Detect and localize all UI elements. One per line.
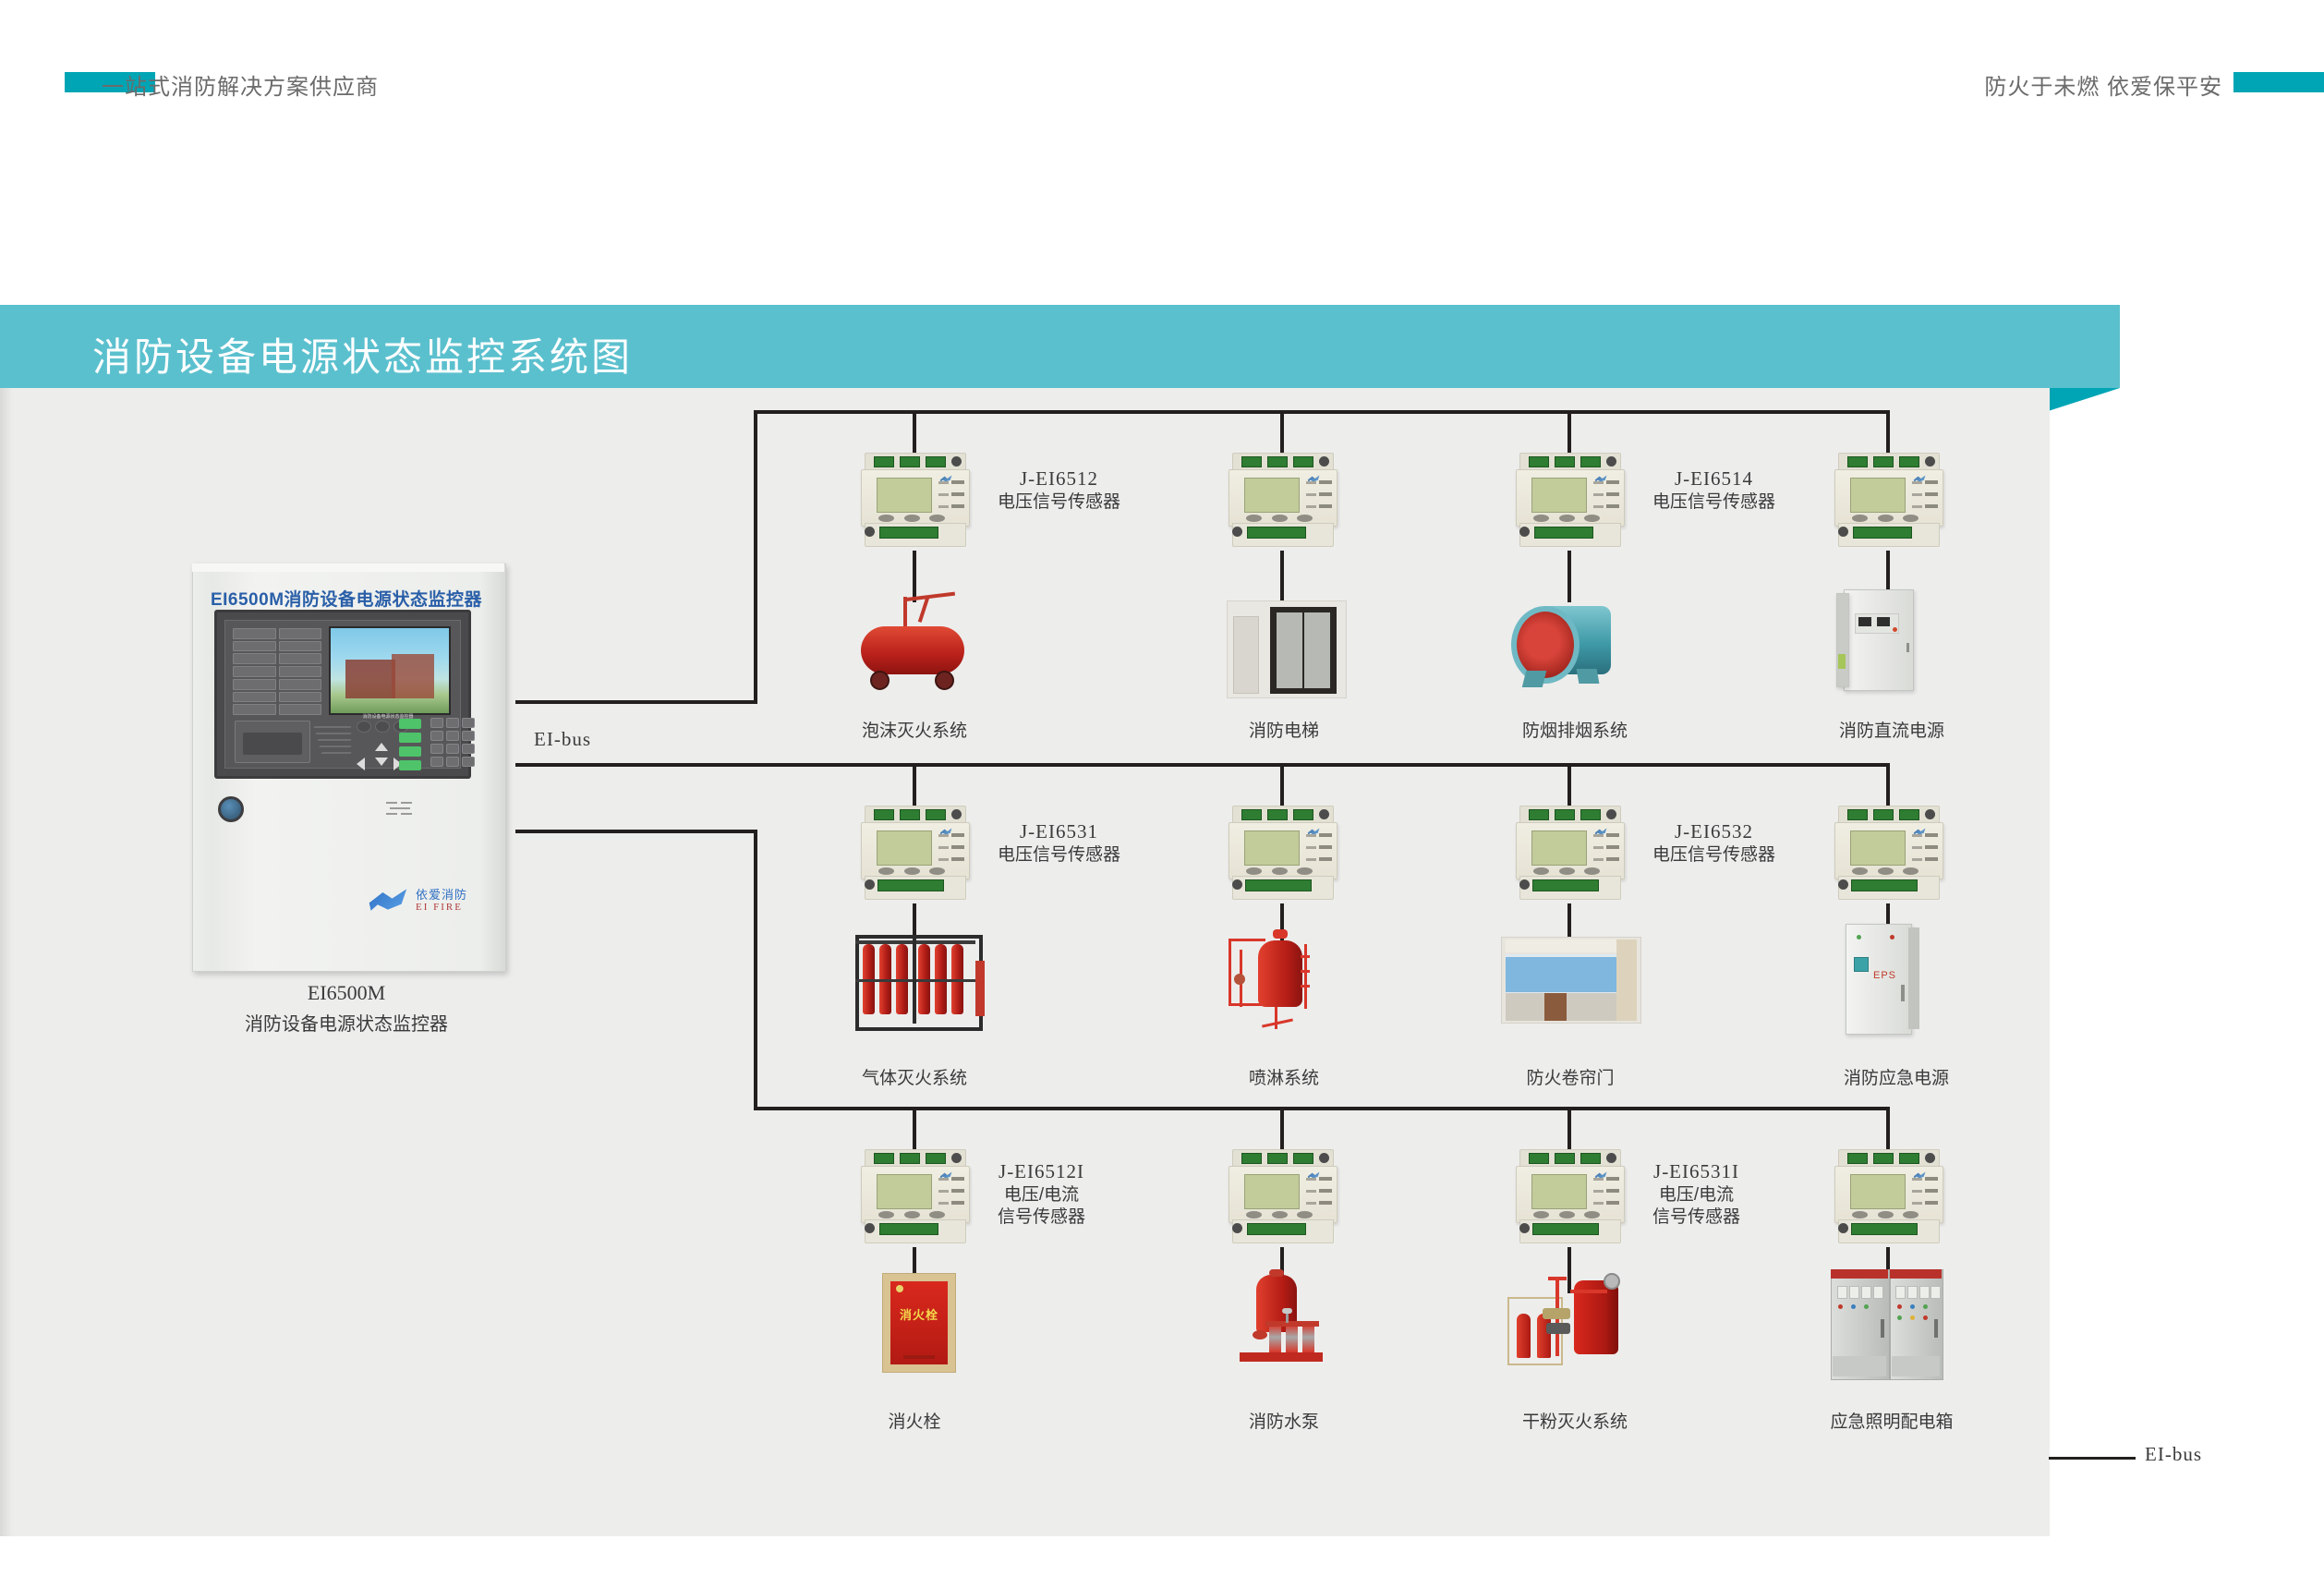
sensor-module-r1c3[interactable] <box>1514 453 1625 549</box>
sensor-button[interactable] <box>929 867 945 875</box>
bus-wire-row3-horizontal <box>754 1107 1888 1110</box>
cabinet-side <box>1836 593 1849 687</box>
sensor-module-r1c2[interactable] <box>1227 453 1338 549</box>
bus-wire-controller-to-row1 <box>515 700 757 704</box>
bus-wire-row1-horizontal <box>754 410 1888 414</box>
sensor-buttons[interactable] <box>878 1211 945 1218</box>
lcd-building-graphic <box>392 654 434 698</box>
controller-faceplate-title: EI6500M消防设备电源状态监控器 <box>185 586 508 611</box>
sensor-knob[interactable] <box>865 879 875 890</box>
status-led-red <box>1890 935 1894 939</box>
sensor-buttons[interactable] <box>1852 867 1919 875</box>
sensor-kind-line1: 电压/电流 <box>1652 1186 1740 1204</box>
keypad-key[interactable] <box>446 744 459 754</box>
terminal-block <box>1293 809 1313 820</box>
sensor-caption-r2c1: J-EI6531 电压信号传感器 <box>998 822 1120 864</box>
terminal-block <box>1847 456 1868 467</box>
equipment-caption-r2c3: 防火卷帘门 <box>1487 1064 1653 1089</box>
sensor-module-r2c1[interactable] <box>859 806 970 902</box>
sensor-body <box>1516 822 1625 879</box>
sensor-button[interactable] <box>1297 515 1313 522</box>
sensor-caption-r1c3: J-EI6514 电压信号传感器 <box>1652 469 1775 511</box>
function-button[interactable] <box>399 733 421 743</box>
indicator-lamp <box>279 628 322 639</box>
arrow-left-icon[interactable] <box>357 758 365 770</box>
sensor-model: J-EI6512 <box>998 469 1120 489</box>
sensor-body <box>1229 822 1338 879</box>
equipment-smoke-exhaust-fan <box>1504 591 1642 702</box>
indicator-lamp <box>279 653 322 664</box>
indicator-lamp <box>233 692 276 703</box>
roller-shutter <box>1506 954 1616 995</box>
terminal-block <box>1899 809 1919 820</box>
sensor-knob[interactable] <box>1519 879 1530 890</box>
sensor-display <box>1244 1174 1300 1209</box>
sensor-button[interactable] <box>1272 515 1288 522</box>
terminal-block <box>874 456 894 467</box>
sensor-module-r3c4[interactable] <box>1833 1149 1943 1245</box>
controller-indicator-lamp-grid <box>233 628 321 715</box>
controller-screen-frame: 消防设备电源状态监控器 <box>214 610 471 779</box>
sensor-kind-line1: 电压/电流 <box>998 1186 1085 1204</box>
sensor-button[interactable] <box>929 1211 945 1218</box>
controller-lower-vent <box>386 802 414 815</box>
equipment-emergency-lighting-panel <box>1822 1267 1960 1386</box>
sensor-buttons[interactable] <box>1246 1211 1313 1218</box>
controller-caption: EI6500M 消防设备电源状态监控器 <box>185 981 508 1036</box>
terminal-block <box>900 809 920 820</box>
sensor-knob[interactable] <box>1925 1153 1935 1163</box>
sensor-caption-r3c1: J-EI6512I 电压/电流 信号传感器 <box>998 1162 1085 1226</box>
eifire-logo-icon <box>366 887 408 915</box>
terminal-block <box>1267 1153 1288 1164</box>
sensor-knob[interactable] <box>865 1223 875 1233</box>
sensor-buttons[interactable] <box>1533 1211 1600 1218</box>
equipment-fire-pump <box>1229 1267 1349 1383</box>
equipment-caption-r2c4: 消防应急电源 <box>1809 1064 1984 1089</box>
terminal-block <box>1580 456 1601 467</box>
terminal-block <box>1267 809 1288 820</box>
equipment-caption-r1c2: 消防电梯 <box>1201 717 1367 742</box>
sensor-module-r3c1[interactable] <box>859 1149 970 1245</box>
keypad-key[interactable] <box>446 731 459 741</box>
sensor-button[interactable] <box>1559 1211 1575 1218</box>
controller-key-lock[interactable] <box>218 796 244 822</box>
equipment-dry-powder-system <box>1506 1267 1644 1383</box>
legend-bus-line-sample <box>2049 1457 2136 1460</box>
sensor-knob[interactable] <box>1606 456 1616 467</box>
terminal-strip <box>1853 527 1912 539</box>
sensor-caption-r3c3: J-EI6531I 电压/电流 信号传感器 <box>1652 1162 1740 1226</box>
equipment-caption-r1c1: 泡沫灭火系统 <box>831 717 998 742</box>
equipment-sprinkler-system <box>1217 924 1351 1039</box>
bus-wire-row2-horizontal <box>878 763 1888 767</box>
sensor-body <box>1516 469 1625 527</box>
sensor-body <box>1516 1166 1625 1223</box>
terminal-block <box>1555 456 1575 467</box>
sensor-model: J-EI6514 <box>1652 469 1775 489</box>
terminal-block <box>926 809 946 820</box>
sensor-model: J-EI6531 <box>998 822 1120 842</box>
drop-wire-r1c1 <box>913 410 916 455</box>
controller-top-edge <box>192 564 504 572</box>
controller-caption-model: EI6500M <box>185 981 508 1005</box>
terminal-strip <box>1247 1223 1306 1235</box>
controller-printer[interactable] <box>235 721 310 763</box>
terminal-strip <box>1851 1223 1918 1235</box>
equipment-caption-r2c2: 喷淋系统 <box>1201 1064 1367 1089</box>
sensor-module-r1c4[interactable] <box>1833 453 1943 549</box>
sensor-button[interactable] <box>1559 515 1575 522</box>
terminal-strip <box>1247 527 1306 539</box>
sensor-kind-line2: 信号传感器 <box>1652 1208 1740 1226</box>
terminal-block <box>926 456 946 467</box>
sensor-module-r2c4[interactable] <box>1833 806 1943 902</box>
sensor-module-r2c2[interactable] <box>1227 806 1338 902</box>
sensor-button[interactable] <box>1246 1211 1262 1218</box>
terminal-block <box>1873 809 1894 820</box>
sensor-knob[interactable] <box>1838 1223 1848 1233</box>
terminal-block <box>926 1153 946 1164</box>
equipment-fire-elevator <box>1219 591 1353 702</box>
sensor-display <box>1244 478 1300 513</box>
sensor-knob[interactable] <box>1838 879 1848 890</box>
drop-wire-r2c1 <box>913 763 916 807</box>
sensor-kind: 电压信号传感器 <box>1652 846 1775 864</box>
drop-wire-r1c3 <box>1567 410 1571 455</box>
sensor-display <box>877 1174 932 1209</box>
sensor-button[interactable] <box>1246 867 1262 875</box>
controller-unit[interactable]: EI6500M消防设备电源状态监控器 消防设备电源状态监控器 <box>185 564 508 1025</box>
sensor-buttons[interactable] <box>878 515 945 522</box>
terminal-block <box>874 1153 894 1164</box>
terminal-block <box>1580 1153 1601 1164</box>
equipment-caption-r3c2: 消防水泵 <box>1201 1408 1367 1433</box>
sensor-body <box>1229 1166 1338 1223</box>
terminal-block <box>1873 1153 1894 1164</box>
sensor-knob[interactable] <box>951 1153 962 1163</box>
sensor-buttons[interactable] <box>1852 515 1919 522</box>
drop-wire-r2c3 <box>1567 763 1571 807</box>
keypad-key[interactable] <box>430 744 443 754</box>
terminal-strip <box>878 879 944 891</box>
legend-bus-label: EI-bus <box>2145 1443 2202 1466</box>
status-led-green <box>1857 935 1861 939</box>
sensor-button[interactable] <box>1559 867 1575 875</box>
equipment-caption-r1c4: 消防直流电源 <box>1809 717 1975 742</box>
sensor-button[interactable] <box>1878 515 1894 522</box>
sensor-buttons[interactable] <box>1533 515 1600 522</box>
sensor-module-r3c3[interactable] <box>1514 1149 1625 1245</box>
controller-inner-bezel: 消防设备电源状态监控器 <box>224 620 461 769</box>
drop-wire-r1c2 <box>1280 410 1284 455</box>
sensor-module-r2c3[interactable] <box>1514 806 1625 902</box>
terminal-strip <box>1534 527 1593 539</box>
sensor-button[interactable] <box>1297 1211 1313 1218</box>
lcd-building-graphic <box>345 660 395 698</box>
sensor-caption-r1c1: J-EI6512 电压信号传感器 <box>998 469 1120 511</box>
terminal-block <box>1241 809 1262 820</box>
terminal-block <box>1267 456 1288 467</box>
arrow-down-icon[interactable] <box>375 758 388 766</box>
terminal-block <box>1847 1153 1868 1164</box>
terminal-block <box>1899 1153 1919 1164</box>
sensor-knob[interactable] <box>1319 1153 1329 1163</box>
sensor-display <box>877 830 932 866</box>
roller-door-photo <box>1501 937 1641 1024</box>
sensor-buttons[interactable] <box>878 867 945 875</box>
round-button[interactable] <box>357 721 371 733</box>
controller-lcd-screen[interactable] <box>329 626 451 715</box>
sensor-body <box>861 1166 970 1223</box>
sensor-button[interactable] <box>904 515 920 522</box>
terminal-block <box>1529 809 1549 820</box>
sensor-display <box>1850 830 1906 866</box>
terminal-block <box>1241 456 1262 467</box>
terminal-block <box>1580 809 1601 820</box>
sensor-knob[interactable] <box>951 809 962 819</box>
sensor-knob[interactable] <box>1319 456 1329 467</box>
indicator-lamp <box>233 704 276 715</box>
sprinkler-tank <box>1258 940 1302 1007</box>
sensor-kind: 电压信号传感器 <box>998 846 1120 864</box>
terminal-block <box>1529 456 1549 467</box>
terminal-strip <box>1245 879 1312 891</box>
indicator-lamp <box>233 666 276 677</box>
bus-wire-row3-riser <box>754 830 757 1110</box>
sensor-model: J-EI6531I <box>1652 1162 1740 1182</box>
sensor-knob[interactable] <box>1606 809 1616 819</box>
terminal-strip <box>1851 879 1918 891</box>
sensor-knob[interactable] <box>1606 1153 1616 1163</box>
indicator-lamp <box>233 653 276 664</box>
cabinet-body <box>1844 589 1914 691</box>
sensor-knob[interactable] <box>1519 527 1530 537</box>
sensor-button[interactable] <box>1878 867 1894 875</box>
sensor-caption-r2c3: J-EI6532 电压信号传感器 <box>1652 822 1775 864</box>
equipment-caption-r1c3: 防烟排烟系统 <box>1487 717 1663 742</box>
keypad-key[interactable] <box>462 718 475 728</box>
sensor-button[interactable] <box>878 867 894 875</box>
sensor-button[interactable] <box>1297 867 1313 875</box>
sensor-button[interactable] <box>1246 515 1262 522</box>
sensor-button[interactable] <box>1852 867 1868 875</box>
drop-wire-r3c2 <box>1280 1107 1284 1151</box>
sensor-knob[interactable] <box>1232 879 1242 890</box>
sensor-button[interactable] <box>1272 1211 1288 1218</box>
terminal-block <box>1555 809 1575 820</box>
hydrant-red-door: 消火栓 <box>890 1281 948 1364</box>
equipment-gas-suppression-system <box>850 924 988 1039</box>
equipment-eps-cabinet: EPS <box>1829 924 1954 1039</box>
sensor-display <box>1531 830 1587 866</box>
sensor-button[interactable] <box>1852 515 1868 522</box>
sensor-module-r1c1[interactable] <box>859 453 970 549</box>
keypad-key[interactable] <box>462 757 475 767</box>
sensor-knob[interactable] <box>951 456 962 467</box>
terminal-strip <box>1532 879 1599 891</box>
sensor-button[interactable] <box>1903 867 1919 875</box>
equipment-caption-r3c1: 消火栓 <box>831 1408 998 1433</box>
controller-numeric-keypad[interactable] <box>430 718 475 767</box>
equipment-dc-power-cabinet <box>1827 589 1956 702</box>
sensor-kind: 电压信号传感器 <box>1652 493 1775 511</box>
sensor-button[interactable] <box>878 515 894 522</box>
sensor-button[interactable] <box>1903 1211 1919 1218</box>
function-button[interactable] <box>399 719 421 729</box>
equipment-fire-hydrant-box: 消火栓 <box>854 1267 984 1383</box>
sensor-display <box>877 478 932 513</box>
sensor-button[interactable] <box>904 867 920 875</box>
indicator-lamp <box>279 679 322 690</box>
controller-caption-name: 消防设备电源状态监控器 <box>185 1009 508 1036</box>
sensor-button[interactable] <box>1584 515 1600 522</box>
equipment-caption-r3c4: 应急照明配电箱 <box>1799 1408 1984 1433</box>
arrow-up-icon[interactable] <box>375 743 388 751</box>
header-tagline-left: 一站式消防解决方案供应商 <box>102 68 379 101</box>
keypad-key[interactable] <box>446 757 459 767</box>
header-tagline-right: 防火于未燃 依爱保平安 <box>1984 68 2222 101</box>
sensor-buttons[interactable] <box>1852 1211 1919 1218</box>
sensor-button[interactable] <box>1533 515 1549 522</box>
sensor-knob[interactable] <box>1838 527 1848 537</box>
sensor-buttons[interactable] <box>1533 867 1600 875</box>
sensor-display <box>1850 1174 1906 1209</box>
sensor-model: J-EI6532 <box>1652 822 1775 842</box>
keypad-key[interactable] <box>446 718 459 728</box>
sensor-button[interactable] <box>929 515 945 522</box>
terminal-block <box>900 456 920 467</box>
keypad-key[interactable] <box>462 744 475 754</box>
sensor-knob[interactable] <box>1925 809 1935 819</box>
keypad-key[interactable] <box>430 718 443 728</box>
terminal-strip <box>1532 1223 1599 1235</box>
sensor-kind: 电压信号传感器 <box>998 493 1120 511</box>
drop-wire-r3c3 <box>1567 1107 1571 1151</box>
brand-name-cn: 依爱消防 <box>416 885 467 903</box>
round-button[interactable] <box>375 721 390 733</box>
sensor-display <box>1531 1174 1587 1209</box>
keypad-key[interactable] <box>462 731 475 741</box>
terminal-block <box>874 809 894 820</box>
drop-wire-r1c4 <box>1886 410 1890 455</box>
sensor-button[interactable] <box>878 1211 894 1218</box>
sensor-button[interactable] <box>904 1211 920 1218</box>
equipment-fire-roller-door <box>1501 926 1653 1038</box>
bus-wire-row1-riser <box>754 410 757 704</box>
terminal-block <box>900 1153 920 1164</box>
elevator-photo <box>1227 600 1347 698</box>
sensor-buttons[interactable] <box>1246 515 1313 522</box>
indicator-lamp <box>279 692 322 703</box>
sensor-knob[interactable] <box>1232 1223 1242 1233</box>
terminal-block <box>1873 456 1894 467</box>
indicator-lamp <box>233 641 276 652</box>
indicator-lamp <box>233 679 276 690</box>
sensor-knob[interactable] <box>1232 527 1242 537</box>
sensor-button[interactable] <box>1533 1211 1549 1218</box>
terminal-block <box>1847 809 1868 820</box>
indicator-lamp <box>279 704 322 715</box>
hydrant-cabinet: 消火栓 <box>882 1273 956 1373</box>
sensor-display <box>1244 830 1300 866</box>
terminal-strip <box>879 527 938 539</box>
terminal-block <box>1293 456 1313 467</box>
sensor-model: J-EI6512I <box>998 1162 1085 1182</box>
function-button[interactable] <box>399 760 421 770</box>
sensor-body <box>1834 822 1943 879</box>
page-title: 消防设备电源状态监控系统图 <box>92 326 633 382</box>
sensor-body <box>861 469 970 527</box>
bus-wire-controller-to-lower <box>515 830 757 833</box>
drop-wire-r3c1 <box>913 1107 916 1151</box>
equipment-caption-r2c1: 气体灭火系统 <box>831 1064 998 1089</box>
printer-paper-slot <box>243 733 302 755</box>
sensor-display <box>1531 478 1587 513</box>
sensor-button[interactable] <box>1878 1211 1894 1218</box>
page-header: 一站式消防解决方案供应商 防火于未燃 依爱保平安 <box>0 0 2324 139</box>
keypad-key[interactable] <box>430 757 443 767</box>
terminal-block <box>1555 1153 1575 1164</box>
sensor-body <box>861 822 970 879</box>
sensor-button[interactable] <box>1584 867 1600 875</box>
sensor-button[interactable] <box>1903 515 1919 522</box>
drop-wire-r2c2 <box>1280 763 1284 807</box>
equipment-caption-r3c3: 干粉灭火系统 <box>1487 1408 1663 1433</box>
banner-ribbon-fold <box>2040 388 2120 414</box>
sensor-body <box>1229 469 1338 527</box>
terminal-block <box>1529 1153 1549 1164</box>
sensor-kind-line2: 信号传感器 <box>998 1208 1085 1226</box>
sensor-body <box>1834 469 1943 527</box>
sensor-knob[interactable] <box>1319 809 1329 819</box>
hydrant-label: 消火栓 <box>890 1305 948 1323</box>
sensor-body <box>1834 1166 1943 1223</box>
equipment-foam-system <box>850 591 979 702</box>
sensor-button[interactable] <box>1584 1211 1600 1218</box>
indicator-lamp <box>279 641 322 652</box>
terminal-block <box>1241 1153 1262 1164</box>
pump-skid-base <box>1240 1352 1323 1362</box>
elevator-side-door <box>1233 616 1259 694</box>
sensor-knob[interactable] <box>1925 456 1935 467</box>
indicator-lamp <box>279 666 322 677</box>
sensor-knob[interactable] <box>1519 1223 1530 1233</box>
board-left-shadow <box>0 388 13 1536</box>
elevator-door-frame <box>1270 607 1337 694</box>
terminal-strip <box>879 1223 938 1235</box>
sensor-button[interactable] <box>1852 1211 1868 1218</box>
brand-name-en: EI FIRE <box>416 902 463 913</box>
terminal-block <box>1293 1153 1313 1164</box>
function-button[interactable] <box>399 746 421 757</box>
sensor-module-r3c2[interactable] <box>1227 1149 1338 1245</box>
sensor-button[interactable] <box>1272 867 1288 875</box>
keypad-key[interactable] <box>430 731 443 741</box>
bus-label-main: EI-bus <box>534 728 591 751</box>
sensor-display <box>1850 478 1906 513</box>
sensor-button[interactable] <box>1533 867 1549 875</box>
indicator-lamp <box>233 628 276 639</box>
terminal-block <box>1899 456 1919 467</box>
sensor-buttons[interactable] <box>1246 867 1313 875</box>
header-accent-bar-right <box>2233 72 2324 92</box>
controller-brand-logo: 依爱消防 EI FIRE <box>366 885 486 916</box>
controller-screen-caption: 消防设备电源状态监控器 <box>329 713 447 720</box>
drop-wire-r3c4 <box>1886 1107 1890 1151</box>
sensor-knob[interactable] <box>865 527 875 537</box>
drop-wire-r2c4 <box>1886 763 1890 807</box>
